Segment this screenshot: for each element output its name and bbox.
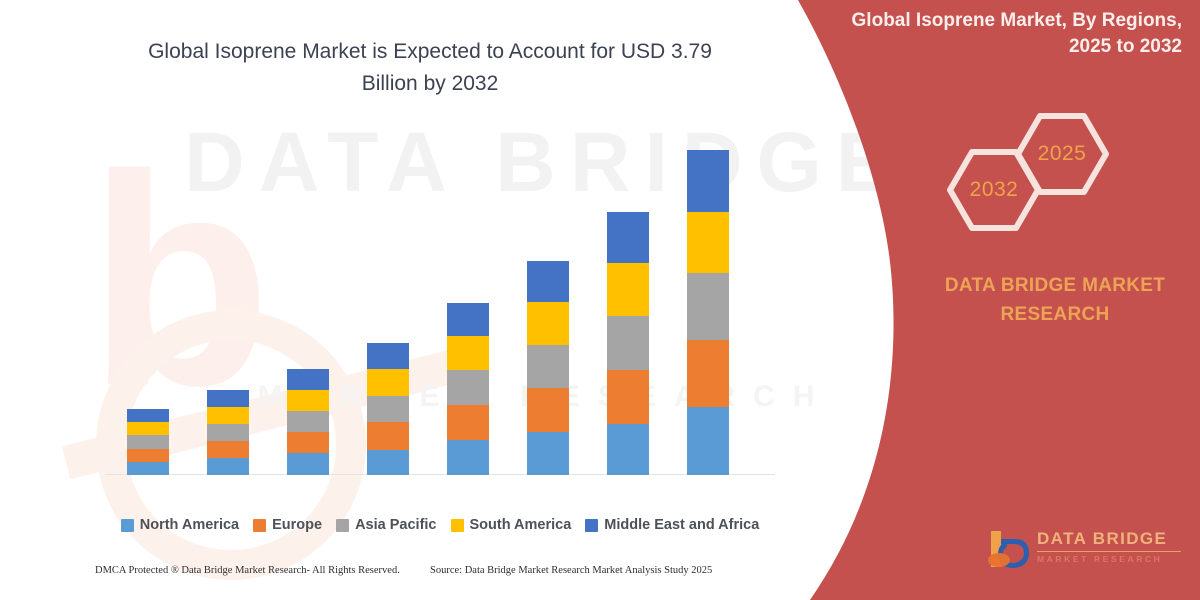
infographic-canvas: b DATA BRIDGE MARKET RESEARCH Global Iso…	[0, 0, 1200, 600]
bar-segment-2030-north-america[interactable]	[527, 432, 569, 475]
legend-label: South America	[470, 517, 572, 533]
bar-segment-2025-south-america[interactable]	[127, 422, 169, 435]
bar-segment-2032-europe[interactable]	[687, 340, 729, 407]
bar-segment-2028-south-america[interactable]	[367, 369, 409, 395]
legend-item-north-america[interactable]: North America	[121, 517, 239, 533]
bar-segment-2028-asia-pacific[interactable]	[367, 396, 409, 422]
bar-segment-2030-middle-east-and-africa[interactable]	[527, 261, 569, 303]
bar-segment-2032-asia-pacific[interactable]	[687, 273, 729, 340]
logo-divider	[1037, 551, 1181, 552]
bar-segment-2027-south-america[interactable]	[287, 390, 329, 411]
bar-2029[interactable]	[447, 303, 489, 475]
bar-segment-2027-europe[interactable]	[287, 432, 329, 454]
legend-swatch-icon	[585, 519, 598, 532]
hexagon-2025-label: 2025	[1014, 112, 1110, 196]
bar-segment-2026-europe[interactable]	[207, 441, 249, 458]
brand-name: DATA BRIDGE MARKET RESEARCH	[920, 272, 1190, 329]
legend-swatch-icon	[336, 519, 349, 532]
legend-swatch-icon	[253, 519, 266, 532]
bar-segment-2028-europe[interactable]	[367, 422, 409, 449]
legend-item-south-america[interactable]: South America	[451, 517, 572, 533]
bar-2027[interactable]	[287, 369, 329, 475]
hexagon-2025: 2025	[1014, 112, 1110, 196]
bar-segment-2027-middle-east-and-africa[interactable]	[287, 369, 329, 390]
chart-legend: North AmericaEuropeAsia PacificSouth Ame…	[95, 512, 785, 538]
stacked-bar-chart: 20252026202720282029203020312032	[95, 130, 785, 475]
bar-segment-2026-asia-pacific[interactable]	[207, 424, 249, 441]
logo-line2: MARKET RESEARCH	[1037, 554, 1187, 564]
data-bridge-logo-mark	[985, 527, 1031, 571]
bar-segment-2030-asia-pacific[interactable]	[527, 345, 569, 388]
page-title: Global Isoprene Market is Expected to Ac…	[130, 36, 730, 99]
bar-2030[interactable]	[527, 261, 569, 475]
company-logo: DATA BRIDGE MARKET RESEARCH	[985, 525, 1185, 575]
footer-source: Source: Data Bridge Market Research Mark…	[430, 565, 712, 576]
bar-segment-2031-europe[interactable]	[607, 370, 649, 424]
legend-label: Asia Pacific	[355, 517, 436, 533]
bar-segment-2027-asia-pacific[interactable]	[287, 411, 329, 432]
legend-label: Middle East and Africa	[604, 517, 759, 533]
bar-segment-2025-asia-pacific[interactable]	[127, 435, 169, 448]
bar-segment-2028-north-america[interactable]	[367, 450, 409, 476]
bar-segment-2029-north-america[interactable]	[447, 440, 489, 475]
bar-segment-2025-middle-east-and-africa[interactable]	[127, 409, 169, 422]
bar-segment-2025-north-america[interactable]	[127, 462, 169, 475]
legend-label: North America	[140, 517, 239, 533]
hexagon-group: 2032 2025	[930, 112, 1120, 232]
bar-segment-2030-europe[interactable]	[527, 388, 569, 431]
bar-2032[interactable]	[687, 150, 729, 475]
bar-segment-2029-south-america[interactable]	[447, 336, 489, 370]
bar-segment-2027-north-america[interactable]	[287, 453, 329, 475]
bar-segment-2031-north-america[interactable]	[607, 424, 649, 475]
bar-segment-2031-middle-east-and-africa[interactable]	[607, 212, 649, 264]
bar-segment-2025-europe[interactable]	[127, 449, 169, 462]
bar-segment-2031-asia-pacific[interactable]	[607, 316, 649, 370]
bar-segment-2032-middle-east-and-africa[interactable]	[687, 150, 729, 212]
bar-2025[interactable]	[127, 409, 169, 475]
footer-copyright: DMCA Protected ® Data Bridge Market Rese…	[95, 565, 400, 576]
bar-segment-2032-south-america[interactable]	[687, 212, 729, 272]
bar-segment-2032-north-america[interactable]	[687, 407, 729, 475]
footer: DMCA Protected ® Data Bridge Market Rese…	[0, 565, 810, 591]
legend-swatch-icon	[451, 519, 464, 532]
legend-label: Europe	[272, 517, 322, 533]
bar-segment-2029-asia-pacific[interactable]	[447, 370, 489, 405]
bar-segment-2026-south-america[interactable]	[207, 407, 249, 424]
logo-line1: DATA BRIDGE	[1037, 529, 1187, 549]
bar-segment-2030-south-america[interactable]	[527, 302, 569, 345]
bar-2031[interactable]	[607, 212, 649, 476]
legend-item-middle-east-and-africa[interactable]: Middle East and Africa	[585, 517, 759, 533]
legend-item-europe[interactable]: Europe	[253, 517, 322, 533]
x-axis-line	[105, 474, 775, 475]
legend-swatch-icon	[121, 519, 134, 532]
bar-segment-2029-europe[interactable]	[447, 405, 489, 440]
chart-plot-area	[95, 135, 785, 475]
bar-2028[interactable]	[367, 343, 409, 475]
bar-2026[interactable]	[207, 390, 249, 475]
bar-segment-2029-middle-east-and-africa[interactable]	[447, 303, 489, 336]
bar-segment-2028-middle-east-and-africa[interactable]	[367, 343, 409, 369]
bar-segment-2026-middle-east-and-africa[interactable]	[207, 390, 249, 407]
panel-title: Global Isoprene Market, By Regions, 2025…	[812, 8, 1182, 59]
bar-segment-2026-north-america[interactable]	[207, 458, 249, 475]
bar-segment-2031-south-america[interactable]	[607, 263, 649, 316]
legend-item-asia-pacific[interactable]: Asia Pacific	[336, 517, 436, 533]
logo-text: DATA BRIDGE MARKET RESEARCH	[1037, 529, 1187, 564]
